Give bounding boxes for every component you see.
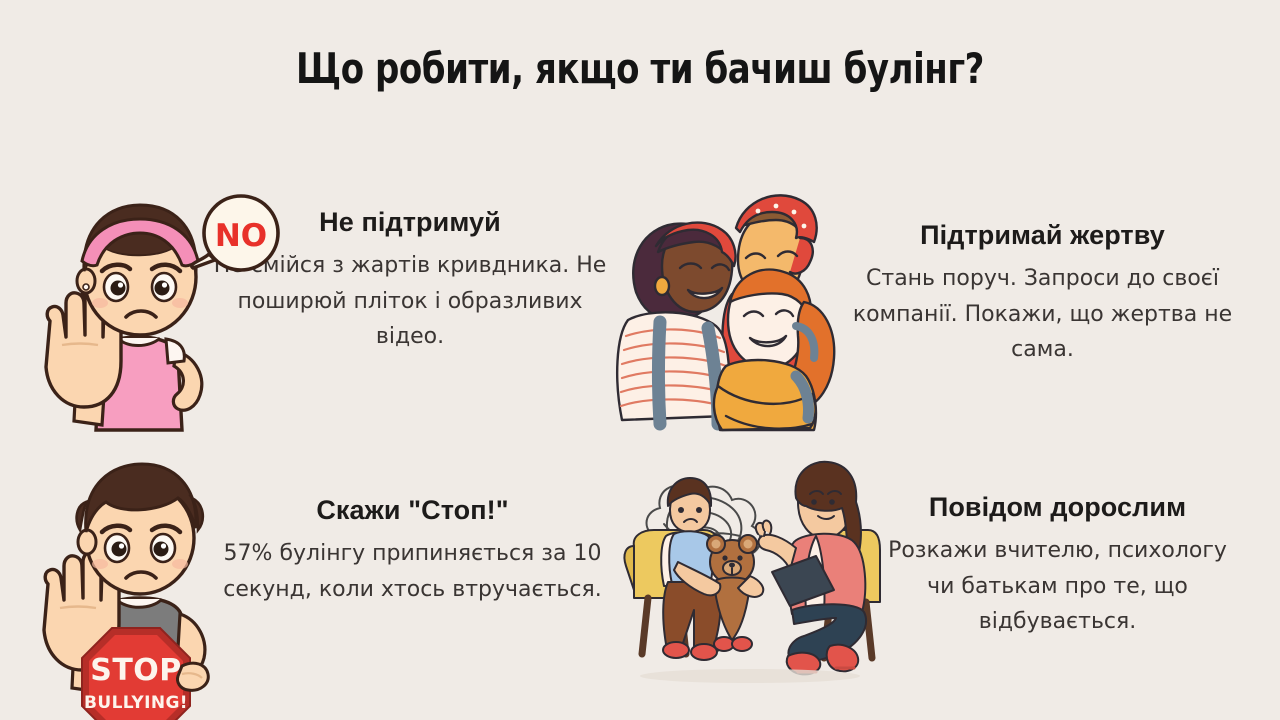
card-4-heading: Повідом дорослим	[875, 492, 1240, 523]
three-women-hugging-illustration	[600, 180, 855, 430]
card-2-heading: Підтримай жертву	[845, 220, 1240, 251]
card-3-body: 57% булінгу припиняється за 10 секунд, к…	[215, 536, 610, 607]
poster-canvas: Що робити, якщо ти бачиш булінг?	[0, 0, 1280, 720]
stop-sign-line-1: STOP	[90, 653, 182, 688]
no-bubble-label: NO	[215, 218, 267, 254]
card-3-heading: Скажи "Стоп!"	[215, 495, 610, 526]
page-title: Що робити, якщо ти бачиш булінг?	[64, 44, 1216, 93]
boy-stop-bullying-illustration: STOP BULLYING!	[40, 450, 240, 700]
stop-bullying-sign: STOP BULLYING!	[82, 628, 190, 720]
therapy-session-illustration	[620, 450, 880, 685]
card-4-copy: Повідом дорослим Розкажи вчителю, психол…	[875, 492, 1240, 640]
stop-sign-line-2: BULLYING!	[84, 693, 188, 713]
card-2-body: Стань поруч. Запроси до своєї компанії. …	[845, 261, 1240, 368]
card-2-copy: Підтримай жертву Стань поруч. Запроси до…	[845, 220, 1240, 368]
card-4-body: Розкажи вчителю, психологу чи батькам пр…	[875, 533, 1240, 640]
card-say-stop: STOP BULLYING! Скажи "Стоп!" 57% булінгу…	[40, 450, 610, 700]
card-3-copy: Скажи "Стоп!" 57% булінгу припиняється з…	[215, 495, 610, 607]
card-do-not-support: Не підтримуй Не смійся з жартів кривдник…	[40, 185, 610, 430]
card-support-the-victim: Підтримай жертву Стань поруч. Запроси до…	[600, 185, 1240, 430]
no-speech-bubble: NO	[185, 190, 290, 290]
card-tell-an-adult: Повідом дорослим Розкажи вчителю, психол…	[620, 450, 1240, 700]
